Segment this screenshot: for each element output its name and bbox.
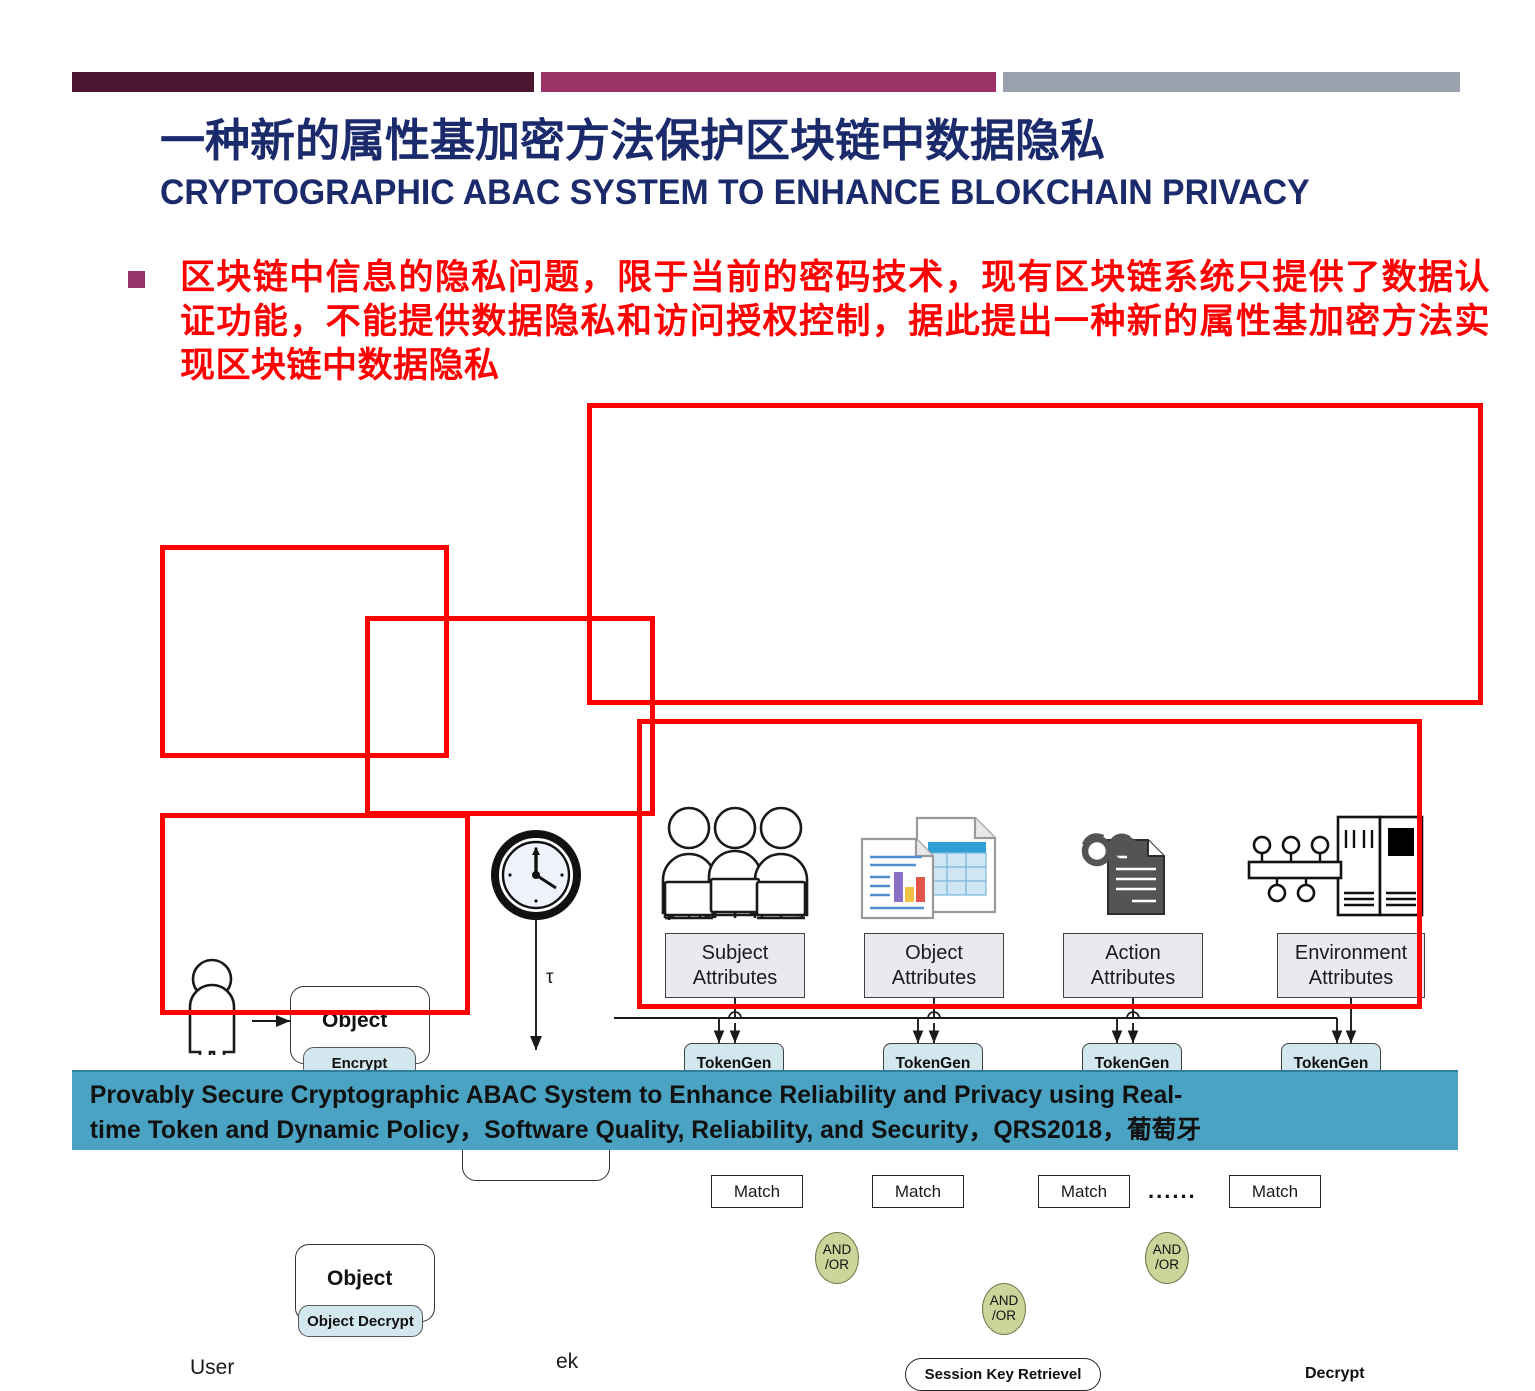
documents-chart-table-icon (862, 818, 995, 918)
andor-top-label: AND (823, 1243, 852, 1258)
andor-bottom-label: /OR (992, 1309, 1016, 1324)
caption-line-1: Provably Secure Cryptographic ABAC Syste… (90, 1078, 1444, 1113)
attr-line1: Environment (1295, 942, 1407, 964)
tau-label: τ (546, 967, 554, 989)
andor-gate-left[interactable]: AND /OR (815, 1232, 859, 1284)
ek-label: ek (556, 1350, 578, 1374)
attr-line2: Attributes (1309, 967, 1393, 989)
andor-bottom-label: /OR (1155, 1258, 1179, 1273)
attr-line1: Object (905, 942, 963, 964)
user-object-title: Object (327, 1267, 392, 1291)
owner-object-title: Object (322, 1009, 387, 1033)
bullet-item: 区块链中信息的隐私问题，限于当前的密码技术，现有区块链系统只提供了数据认证功能，… (128, 256, 1508, 388)
attribute-box-object[interactable]: Object Attributes (864, 933, 1004, 998)
footer-caption: Provably Secure Cryptographic ABAC Syste… (72, 1070, 1458, 1150)
header-accent-bar-magenta (541, 72, 996, 92)
attribute-box-environment[interactable]: Environment Attributes (1277, 933, 1425, 998)
wall-clock-icon (495, 834, 577, 916)
owner-person-icon (190, 960, 234, 1055)
object-decrypt-pill[interactable]: Object Decrypt (298, 1305, 423, 1337)
user-caption: User (190, 1356, 234, 1380)
header-accent-bar-gray (1003, 72, 1460, 92)
attribute-box-subject[interactable]: Subject Attributes (665, 933, 805, 998)
attribute-box-action[interactable]: Action Attributes (1063, 933, 1203, 998)
glasses-document-icon (1085, 837, 1164, 914)
match-box-4[interactable]: Match (1229, 1175, 1321, 1208)
bullet-text: 区块链中信息的隐私问题，限于当前的密码技术，现有区块链系统只提供了数据认证功能，… (180, 256, 1490, 388)
people-group-icon (663, 808, 807, 917)
decrypt-region-label: Decrypt (1305, 1365, 1365, 1383)
andor-top-label: AND (990, 1294, 1019, 1309)
attr-line2: Attributes (693, 967, 777, 989)
match-box-3[interactable]: Match (1038, 1175, 1130, 1208)
match-box-1[interactable]: Match (711, 1175, 803, 1208)
attr-line1: Subject (702, 942, 769, 964)
match-box-2[interactable]: Match (872, 1175, 964, 1208)
header-accent-bar-maroon (72, 72, 534, 92)
page-title-chinese: 一种新的属性基加密方法保护区块链中数据隐私 (160, 115, 1500, 167)
session-key-retrieval-box[interactable]: Session Key Retrievel (905, 1358, 1101, 1391)
page-title-english: CRYPTOGRAPHIC ABAC SYSTEM TO ENHANCE BLO… (160, 172, 1463, 214)
ellipsis-between-matches: ...... (1148, 1178, 1197, 1204)
abac-architecture-diagram: Subject Attributes Object Attributes Act… (0, 385, 1535, 1055)
andor-gate-right[interactable]: AND /OR (1145, 1232, 1189, 1284)
caption-line-2: time Token and Dynamic Policy，Software Q… (90, 1113, 1444, 1148)
bullet-marker-icon (128, 271, 145, 288)
andor-gate-root[interactable]: AND /OR (982, 1283, 1026, 1335)
attr-line2: Attributes (1091, 967, 1175, 989)
attr-line2: Attributes (892, 967, 976, 989)
andor-bottom-label: /OR (825, 1258, 849, 1273)
attr-line1: Action (1105, 942, 1161, 964)
andor-top-label: AND (1153, 1243, 1182, 1258)
